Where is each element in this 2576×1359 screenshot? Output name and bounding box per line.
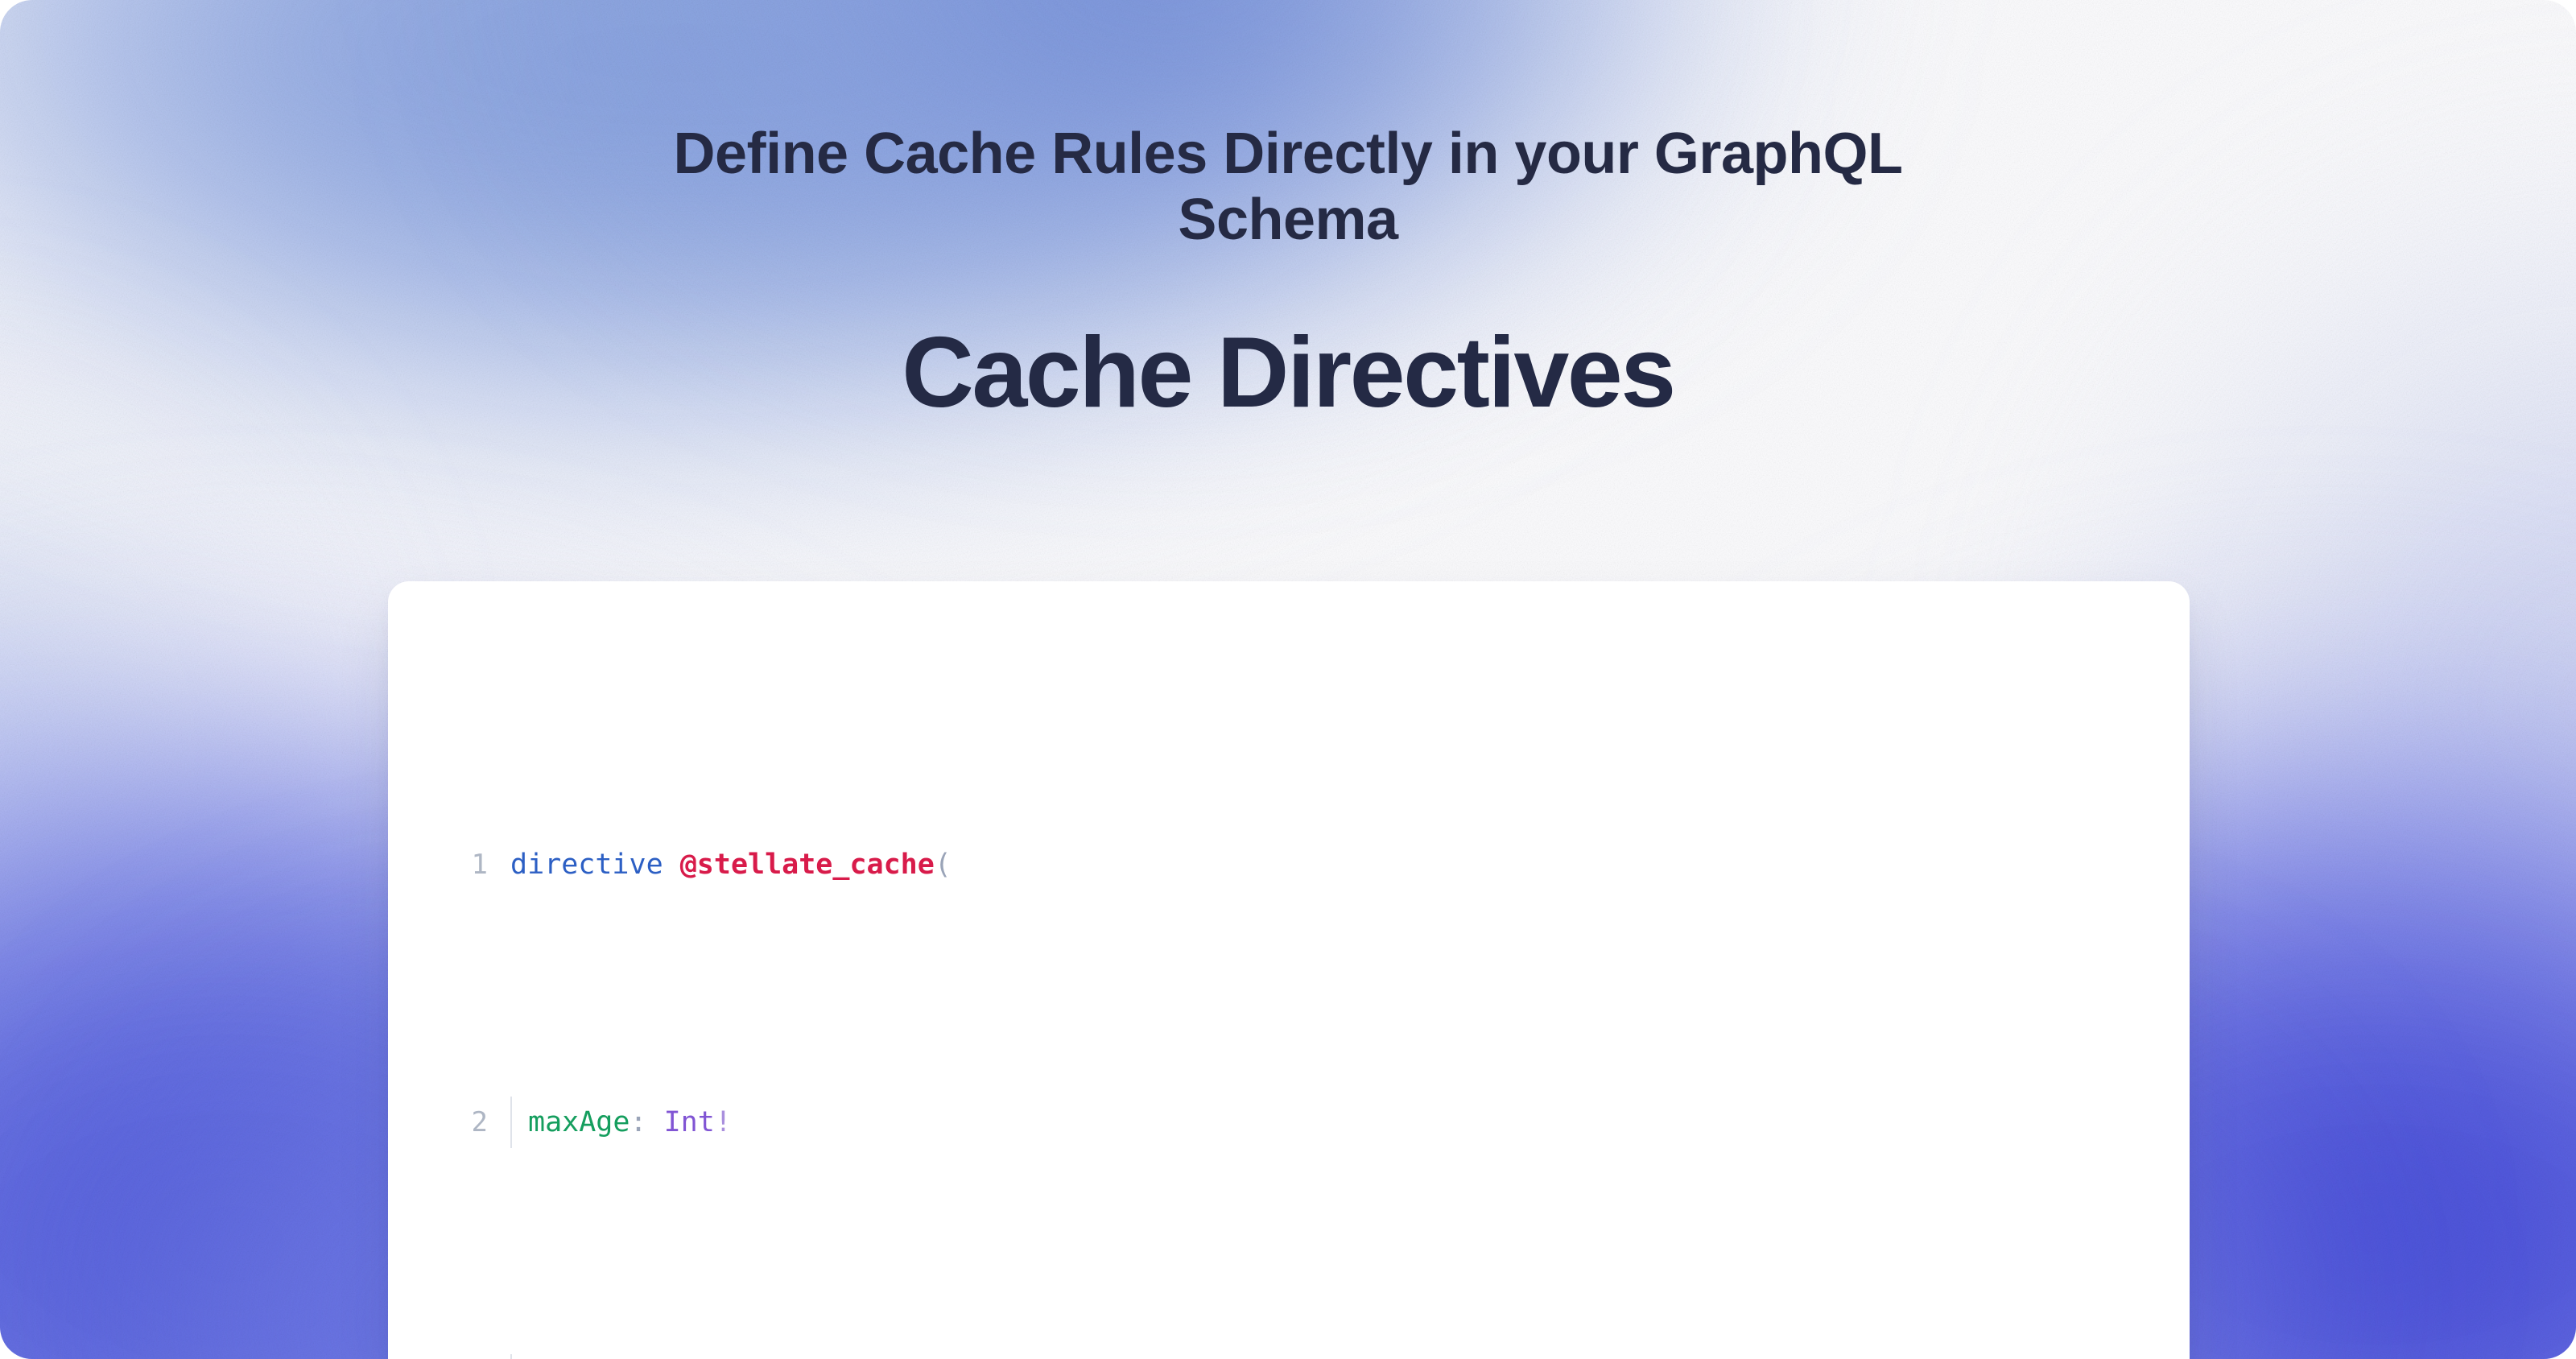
background-blob-left-middle <box>0 386 306 1111</box>
page-title: Cache Directives <box>0 320 2576 425</box>
token-type-int: Int <box>664 1106 715 1138</box>
line-number: 3 <box>388 1354 510 1359</box>
token-paren-open: ( <box>935 849 952 881</box>
slide-subtitle: Define Cache Rules Directly in your Grap… <box>596 121 1980 253</box>
indent-guide <box>510 1354 512 1359</box>
token-field-maxage: maxAge <box>528 1106 630 1138</box>
code-card: 1 directive @stellate_cache( 2 maxAge: I… <box>388 581 2190 1359</box>
code-editor[interactable]: 1 directive @stellate_cache( 2 maxAge: I… <box>388 581 2190 1359</box>
code-line-content: swr: Int <box>510 1354 2190 1359</box>
token-non-null: ! <box>715 1106 732 1138</box>
code-line: 2 maxAge: Int! <box>388 1097 2190 1148</box>
code-line-content: maxAge: Int! <box>510 1097 2190 1148</box>
token-keyword-directive: directive <box>510 849 663 881</box>
line-number: 2 <box>388 1097 510 1148</box>
slide-heading-group: Define Cache Rules Directly in your Grap… <box>0 0 2576 425</box>
token-directive-name: @stellate_cache <box>680 849 935 881</box>
indent-guide <box>510 1097 512 1148</box>
slide-canvas: Define Cache Rules Directly in your Grap… <box>0 0 2576 1359</box>
line-number: 1 <box>388 839 510 890</box>
code-line: 1 directive @stellate_cache( <box>388 839 2190 890</box>
code-line: 3 swr: Int <box>388 1354 2190 1359</box>
code-line-content: directive @stellate_cache( <box>510 839 2190 890</box>
